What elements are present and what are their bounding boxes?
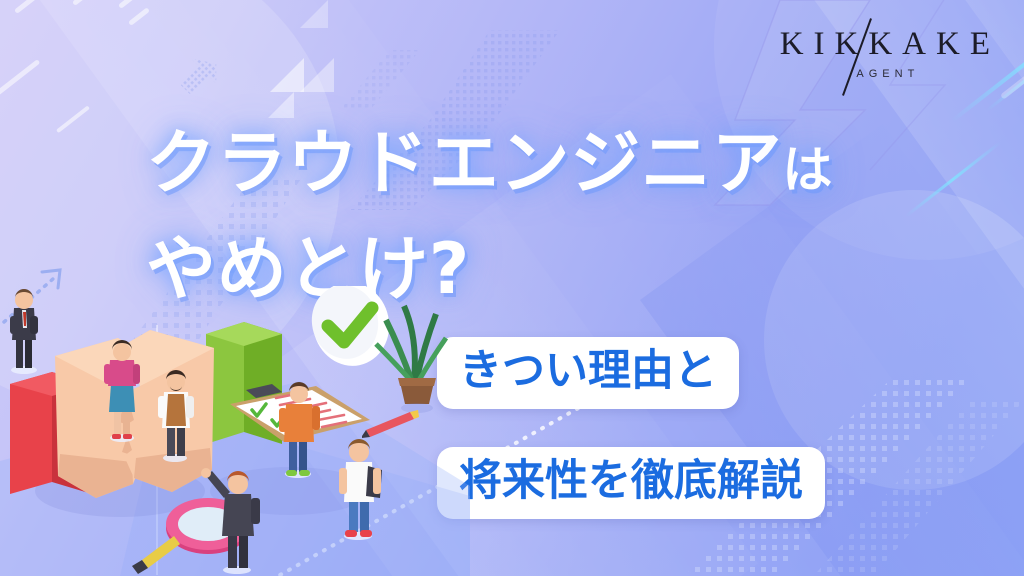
pencil-icon [362, 410, 419, 438]
brand-logo[interactable]: KIKKAKE AGENT [770, 28, 1000, 80]
decor-dotted-arrow [165, 45, 225, 105]
headline-line-1-particle: は [782, 141, 833, 199]
potted-plant [376, 306, 446, 413]
subtitle-pill-1: きつい理由と [437, 337, 739, 409]
check-circle-icon [305, 286, 397, 373]
businessman-figure [10, 289, 38, 374]
logo-subtitle: AGENT [770, 68, 1000, 80]
decor-triangle [268, 92, 294, 118]
subtitle-pill-2: 将来性を徹底解説 [437, 447, 825, 519]
decor-triangle [300, 58, 334, 92]
headline-line-1-main: クラウドエンジニア [146, 122, 782, 204]
headline-line-1: クラウドエンジニアは [146, 128, 833, 198]
banner-canvas: KIKKAKE AGENT クラウドエンジニアは やめとけ? きつい理由と 将来… [0, 0, 1024, 576]
isometric-illustration [0, 286, 470, 576]
decor-triangle [270, 58, 304, 92]
decor-triangle [300, 0, 328, 28]
logo-wordmark: KIKKAKE [770, 28, 1000, 61]
